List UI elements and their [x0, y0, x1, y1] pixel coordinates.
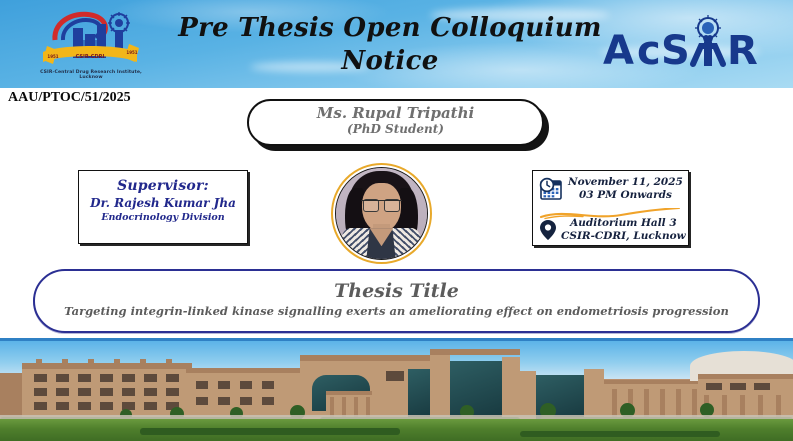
acsir-logo: A c S R	[597, 12, 775, 78]
svg-text:S: S	[661, 28, 690, 74]
event-time: 03 PM Onwards	[568, 189, 683, 202]
supervisor-division: Endocrinology Division	[79, 211, 247, 225]
speaker-name-badge: Ms. Rupal Tripathi (PhD Student)	[247, 99, 544, 146]
thesis-heading: Thesis Title	[35, 279, 758, 303]
speaker-avatar	[331, 163, 432, 264]
event-details-box: November 11, 2025 03 PM Onwards Auditori…	[532, 170, 689, 246]
speaker-name: Ms. Rupal Tripathi	[249, 105, 542, 122]
svg-text:R: R	[727, 28, 758, 74]
page-title-line-1: Pre Thesis Open Colloquium	[170, 12, 610, 45]
event-date: November 11, 2025	[568, 176, 683, 189]
speaker-designation: (PhD Student)	[249, 122, 542, 137]
page-title: Pre Thesis Open Colloquium Notice	[170, 12, 610, 78]
event-venue-hall: Auditorium Hall 3	[561, 217, 686, 230]
thesis-title: Targeting integrin-linked kinase signall…	[35, 303, 758, 320]
colloquium-notice-poster: CSIR-CDRI 1951 1951 CSIR-Central Drug Re…	[0, 0, 793, 441]
svg-text:CSIR-CDRI: CSIR-CDRI	[76, 54, 105, 60]
svg-text:A: A	[603, 28, 634, 74]
location-pin-icon	[538, 218, 558, 242]
cdri-logo-caption: CSIR-Central Drug Research Institute, Lu…	[33, 70, 149, 80]
poster-header: CSIR-CDRI 1951 1951 CSIR-Central Drug Re…	[0, 0, 793, 88]
svg-text:1951: 1951	[126, 50, 137, 55]
thesis-title-box: Thesis Title Targeting integrin-linked k…	[33, 269, 760, 333]
csir-cdri-logo: CSIR-CDRI 1951 1951 CSIR-Central Drug Re…	[33, 6, 149, 84]
svg-text:c: c	[637, 28, 661, 74]
svg-text:1951: 1951	[47, 54, 58, 59]
supervisor-name: Dr. Rajesh Kumar Jha	[79, 195, 247, 211]
notice-number: AAU/PTOC/51/2025	[8, 90, 131, 106]
avatar	[335, 167, 428, 260]
page-title-line-2: Notice	[170, 45, 610, 78]
campus-photo	[0, 341, 793, 441]
supervisor-box: Supervisor: Dr. Rajesh Kumar Jha Endocri…	[78, 170, 248, 244]
event-venue-institute: CSIR-CDRI, Lucknow	[561, 230, 686, 243]
supervisor-heading: Supervisor:	[79, 178, 247, 195]
calendar-clock-icon	[538, 176, 564, 202]
